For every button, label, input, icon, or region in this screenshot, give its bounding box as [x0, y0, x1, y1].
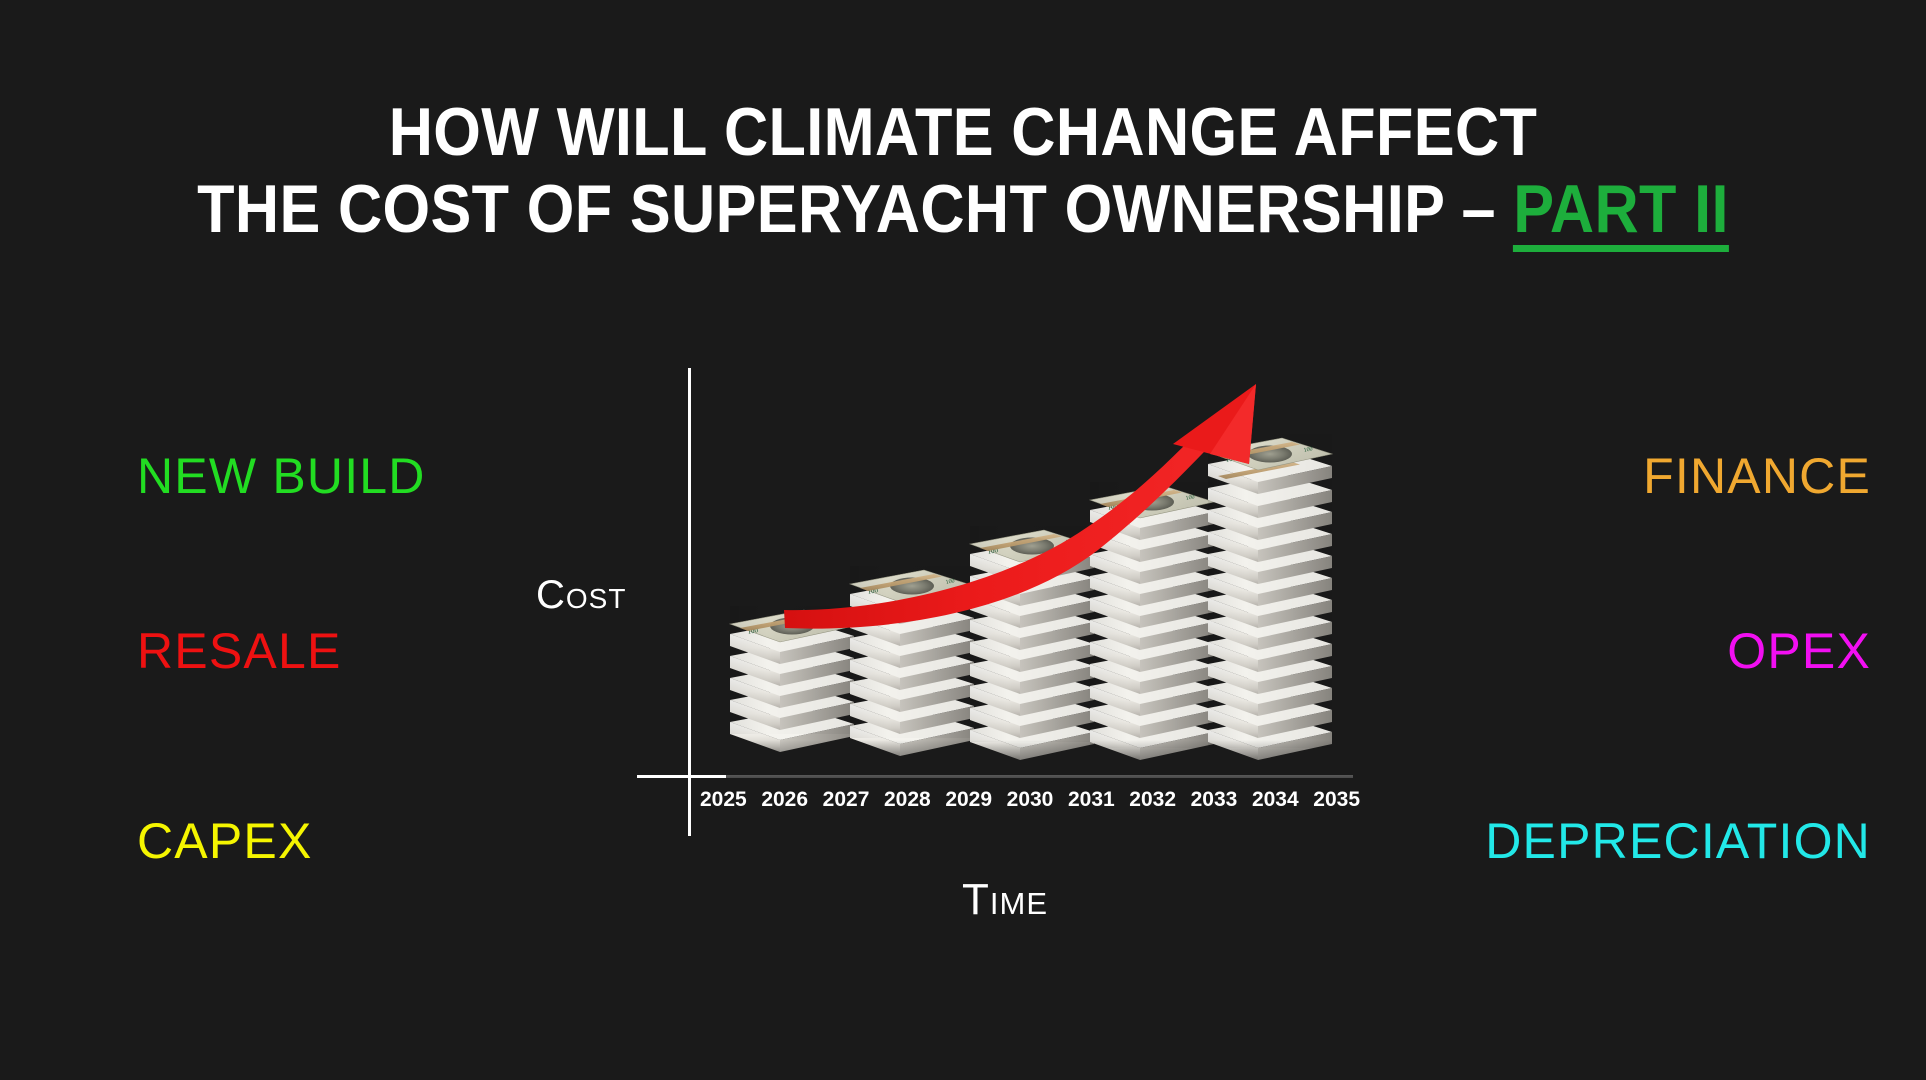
year-tick: 2025	[700, 788, 747, 812]
category-label-depreciation: DEPRECIATION	[1485, 812, 1871, 870]
year-tick: 2028	[884, 788, 931, 812]
year-tick: 2026	[761, 788, 808, 812]
x-axis-tick-labels: 2025 2026 2027 2028 2029 2030 2031 2032 …	[700, 788, 1360, 812]
slide-canvas: HOW WILL CLIMATE CHANGE AFFECT THE COST …	[0, 0, 1926, 1080]
year-tick: 2032	[1129, 788, 1176, 812]
category-label-new-build: NEW BUILD	[137, 447, 426, 505]
year-tick: 2033	[1191, 788, 1238, 812]
x-axis-title: Time	[962, 875, 1048, 925]
category-label-capex: CAPEX	[137, 812, 313, 870]
category-label-resale: RESALE	[137, 622, 342, 680]
y-axis-line	[688, 368, 691, 836]
title-line-2-prefix: THE COST OF SUPERYACHT OWNERSHIP –	[197, 171, 1513, 247]
year-tick: 2031	[1068, 788, 1115, 812]
year-tick: 2029	[945, 788, 992, 812]
category-label-finance: FINANCE	[1643, 447, 1871, 505]
year-tick: 2030	[1007, 788, 1054, 812]
category-label-opex: OPEX	[1727, 622, 1871, 680]
y-axis-title: Cost	[536, 573, 626, 618]
title-line-2: THE COST OF SUPERYACHT OWNERSHIP – PART …	[96, 175, 1829, 252]
money-stack-5	[1208, 434, 1332, 760]
title-part-two-highlight: PART II	[1513, 176, 1729, 252]
money-stack-bar-chart: 100 100	[726, 378, 1356, 778]
year-tick: 2034	[1252, 788, 1299, 812]
year-tick: 2035	[1313, 788, 1360, 812]
title-line-1: HOW WILL CLIMATE CHANGE AFFECT	[96, 98, 1829, 167]
year-tick: 2027	[823, 788, 870, 812]
page-title: HOW WILL CLIMATE CHANGE AFFECT THE COST …	[0, 98, 1926, 252]
